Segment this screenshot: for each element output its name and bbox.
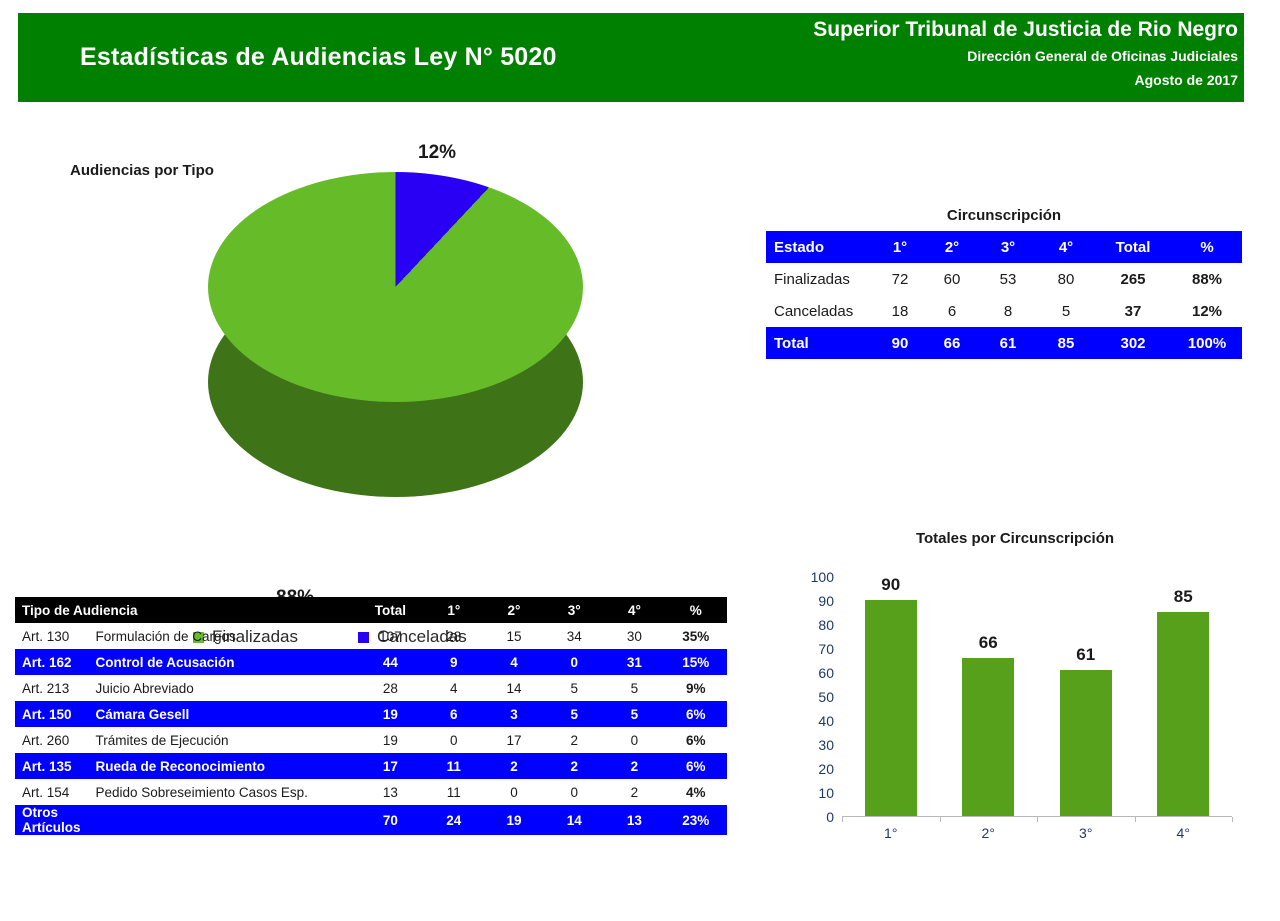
cell-c4: 80 bbox=[1038, 263, 1094, 295]
col-header-tipo: Tipo de Audiencia bbox=[15, 597, 357, 623]
pie-3d-top bbox=[208, 172, 583, 402]
col-header-c4: 4° bbox=[604, 597, 664, 623]
table-row: Otros Artículos702419141323% bbox=[15, 805, 727, 835]
table-total-row: Total 90 66 61 85 302 100% bbox=[766, 327, 1242, 359]
cell-articulo: Art. 154 bbox=[15, 779, 94, 805]
cell-descripcion: Pedido Sobreseimiento Casos Esp. bbox=[94, 779, 358, 805]
cell-descripcion: Rueda de Reconocimiento bbox=[94, 753, 358, 779]
cell-c1: 0 bbox=[424, 727, 484, 753]
cell-total: 265 bbox=[1094, 263, 1172, 295]
bar-chart-bar bbox=[865, 600, 917, 816]
bar-chart-bar bbox=[1157, 612, 1209, 816]
bar-chart-plot: 0102030405060708090100 901°662°613°854° bbox=[842, 577, 1232, 817]
cell-c4: 2 bbox=[604, 779, 664, 805]
pie-label-canceladas: 12% bbox=[418, 142, 456, 164]
tipo-audiencia-table: Tipo de Audiencia Total 1° 2° 3° 4° % Ar… bbox=[15, 597, 727, 835]
table-row: Art. 154Pedido Sobreseimiento Casos Esp.… bbox=[15, 779, 727, 805]
cell-c3: 14 bbox=[544, 805, 604, 835]
cell-total: 70 bbox=[357, 805, 424, 835]
cell-articulo: Art. 135 bbox=[15, 753, 94, 779]
y-axis-tick-label: 90 bbox=[784, 592, 834, 610]
cell-c4: 5 bbox=[604, 675, 664, 701]
cell-estado: Finalizadas bbox=[766, 263, 874, 295]
cell-descripcion: Trámites de Ejecución bbox=[94, 727, 358, 753]
bar-chart-data-label: 61 bbox=[1056, 645, 1116, 665]
cell-total: 44 bbox=[357, 649, 424, 675]
pie-chart-panel: Audiencias por Tipo 12% 88% Finalizadas … bbox=[18, 132, 718, 542]
tipo-audiencia-table-panel: Tipo de Audiencia Total 1° 2° 3° 4° % Ar… bbox=[15, 597, 727, 835]
pie-chart-graphic bbox=[188, 162, 588, 472]
bar-chart-data-label: 85 bbox=[1153, 587, 1213, 607]
col-header-pct: % bbox=[665, 597, 727, 623]
cell-pct: 23% bbox=[665, 805, 727, 835]
cell-c2: 0 bbox=[484, 779, 544, 805]
table-header-row: Tipo de Audiencia Total 1° 2° 3° 4° % bbox=[15, 597, 727, 623]
y-axis-tick-label: 10 bbox=[784, 784, 834, 802]
bar-chart-data-label: 90 bbox=[861, 575, 921, 595]
cell-c4: 5 bbox=[1038, 295, 1094, 327]
cell-c4: 5 bbox=[604, 701, 664, 727]
cell-c1: 9 bbox=[424, 649, 484, 675]
cell-total-total: 302 bbox=[1094, 327, 1172, 359]
bar-chart-title: Totales por Circunscripción bbox=[780, 530, 1250, 547]
circunscripcion-table: Estado 1° 2° 3° 4° Total % Finalizadas 7… bbox=[766, 231, 1242, 359]
cell-pct: 4% bbox=[665, 779, 727, 805]
table-row: Art. 135Rueda de Reconocimiento17112226% bbox=[15, 753, 727, 779]
cell-articulo: Art. 150 bbox=[15, 701, 94, 727]
cell-c3: 5 bbox=[544, 675, 604, 701]
bar-chart-y-axis: 0102030405060708090100 bbox=[784, 568, 834, 808]
header-organization: Superior Tribunal de Justicia de Rio Neg… bbox=[813, 15, 1238, 45]
cell-pct: 12% bbox=[1172, 295, 1242, 327]
col-header-c2: 2° bbox=[926, 231, 978, 263]
cell-articulo: Otros Artículos bbox=[15, 805, 94, 835]
col-header-c3: 3° bbox=[978, 231, 1038, 263]
page-title: Estadísticas de Audiencias Ley N° 5020 bbox=[80, 43, 557, 72]
cell-articulo: Art. 213 bbox=[15, 675, 94, 701]
cell-c1: 6 bbox=[424, 701, 484, 727]
cell-c2: 17 bbox=[484, 727, 544, 753]
cell-c3-total: 61 bbox=[978, 327, 1038, 359]
cell-c1: 28 bbox=[424, 623, 484, 649]
circunscripcion-caption: Circunscripción bbox=[766, 207, 1242, 224]
y-axis-tick-label: 70 bbox=[784, 640, 834, 658]
cell-pct: 6% bbox=[665, 727, 727, 753]
cell-descripcion: Formulación de Cargos bbox=[94, 623, 358, 649]
cell-c3: 53 bbox=[978, 263, 1038, 295]
col-header-c4: 4° bbox=[1038, 231, 1094, 263]
cell-pct: 6% bbox=[665, 701, 727, 727]
cell-total: 107 bbox=[357, 623, 424, 649]
cell-total: 17 bbox=[357, 753, 424, 779]
table-row: Art. 130Formulación de Cargos10728153430… bbox=[15, 623, 727, 649]
cell-c3: 0 bbox=[544, 779, 604, 805]
cell-c2: 15 bbox=[484, 623, 544, 649]
y-axis-tick-label: 0 bbox=[784, 808, 834, 826]
x-axis-tick-label: 3° bbox=[1056, 825, 1116, 841]
col-header-c1: 1° bbox=[424, 597, 484, 623]
cell-c4: 30 bbox=[604, 623, 664, 649]
x-axis-tick-mark bbox=[940, 817, 941, 822]
cell-total: 19 bbox=[357, 701, 424, 727]
cell-pct: 9% bbox=[665, 675, 727, 701]
cell-c1-total: 90 bbox=[874, 327, 926, 359]
header-date: Agosto de 2017 bbox=[813, 68, 1238, 92]
cell-c2: 4 bbox=[484, 649, 544, 675]
x-axis-tick-mark bbox=[1037, 817, 1038, 822]
y-axis-tick-label: 60 bbox=[784, 664, 834, 682]
cell-total: 19 bbox=[357, 727, 424, 753]
cell-estado: Canceladas bbox=[766, 295, 874, 327]
col-header-estado: Estado bbox=[766, 231, 874, 263]
bar-chart-bar bbox=[962, 658, 1014, 816]
col-header-c2: 2° bbox=[484, 597, 544, 623]
cell-c3: 8 bbox=[978, 295, 1038, 327]
table-row: Finalizadas 72 60 53 80 265 88% bbox=[766, 263, 1242, 295]
table-header-row: Estado 1° 2° 3° 4° Total % bbox=[766, 231, 1242, 263]
header-department: Dirección General de Oficinas Judiciales bbox=[813, 45, 1238, 68]
y-axis-tick-label: 30 bbox=[784, 736, 834, 754]
x-axis-tick-mark bbox=[1135, 817, 1136, 822]
cell-c1: 18 bbox=[874, 295, 926, 327]
cell-c1: 24 bbox=[424, 805, 484, 835]
cell-c4: 31 bbox=[604, 649, 664, 675]
cell-c3: 0 bbox=[544, 649, 604, 675]
col-header-total: Total bbox=[1094, 231, 1172, 263]
x-axis-tick-label: 2° bbox=[958, 825, 1018, 841]
cell-descripcion: Cámara Gesell bbox=[94, 701, 358, 727]
cell-c4: 13 bbox=[604, 805, 664, 835]
cell-articulo: Art. 130 bbox=[15, 623, 94, 649]
cell-c2: 14 bbox=[484, 675, 544, 701]
cell-c3: 2 bbox=[544, 727, 604, 753]
x-axis-tick-label: 4° bbox=[1153, 825, 1213, 841]
cell-c2: 2 bbox=[484, 753, 544, 779]
cell-c2: 6 bbox=[926, 295, 978, 327]
bar-chart-data-label: 66 bbox=[958, 633, 1018, 653]
y-axis-tick-label: 50 bbox=[784, 688, 834, 706]
cell-c2-total: 66 bbox=[926, 327, 978, 359]
cell-c2: 60 bbox=[926, 263, 978, 295]
x-axis-tick-label: 1° bbox=[861, 825, 921, 841]
cell-c4: 2 bbox=[604, 753, 664, 779]
table-row: Art. 150Cámara Gesell1963556% bbox=[15, 701, 727, 727]
y-axis-tick-label: 20 bbox=[784, 760, 834, 778]
cell-pct: 15% bbox=[665, 649, 727, 675]
cell-c2: 3 bbox=[484, 701, 544, 727]
col-header-total: Total bbox=[357, 597, 424, 623]
cell-c3: 2 bbox=[544, 753, 604, 779]
cell-total: 13 bbox=[357, 779, 424, 805]
cell-c1: 11 bbox=[424, 753, 484, 779]
cell-pct: 88% bbox=[1172, 263, 1242, 295]
col-header-c3: 3° bbox=[544, 597, 604, 623]
cell-pct: 6% bbox=[665, 753, 727, 779]
cell-c1: 72 bbox=[874, 263, 926, 295]
x-axis-tick-mark bbox=[1232, 817, 1233, 822]
cell-articulo: Art. 260 bbox=[15, 727, 94, 753]
table-row: Art. 260Trámites de Ejecución19017206% bbox=[15, 727, 727, 753]
cell-c4-total: 85 bbox=[1038, 327, 1094, 359]
cell-articulo: Art. 162 bbox=[15, 649, 94, 675]
cell-pct-total: 100% bbox=[1172, 327, 1242, 359]
cell-estado-total: Total bbox=[766, 327, 874, 359]
x-axis-tick-mark bbox=[842, 817, 843, 822]
cell-c3: 34 bbox=[544, 623, 604, 649]
cell-c3: 5 bbox=[544, 701, 604, 727]
table-row: Art. 162Control de Acusación449403115% bbox=[15, 649, 727, 675]
header-right-block: Superior Tribunal de Justicia de Rio Neg… bbox=[813, 15, 1238, 92]
cell-descripcion bbox=[94, 805, 358, 835]
bar-chart-bar bbox=[1060, 670, 1112, 816]
circunscripcion-table-panel: Circunscripción Estado 1° 2° 3° 4° Total… bbox=[766, 207, 1242, 359]
cell-descripcion: Control de Acusación bbox=[94, 649, 358, 675]
col-header-pct: % bbox=[1172, 231, 1242, 263]
y-axis-tick-label: 80 bbox=[784, 616, 834, 634]
page-header-band: Estadísticas de Audiencias Ley N° 5020 S… bbox=[18, 13, 1244, 102]
y-axis-tick-label: 100 bbox=[784, 568, 834, 586]
bar-chart-panel: Totales por Circunscripción 010203040506… bbox=[780, 522, 1250, 862]
table-row: Canceladas 18 6 8 5 37 12% bbox=[766, 295, 1242, 327]
cell-pct: 35% bbox=[665, 623, 727, 649]
col-header-c1: 1° bbox=[874, 231, 926, 263]
cell-c1: 4 bbox=[424, 675, 484, 701]
cell-descripcion: Juicio Abreviado bbox=[94, 675, 358, 701]
cell-total: 28 bbox=[357, 675, 424, 701]
table-row: Art. 213Juicio Abreviado28414559% bbox=[15, 675, 727, 701]
cell-c2: 19 bbox=[484, 805, 544, 835]
cell-c4: 0 bbox=[604, 727, 664, 753]
y-axis-tick-label: 40 bbox=[784, 712, 834, 730]
cell-c1: 11 bbox=[424, 779, 484, 805]
cell-total: 37 bbox=[1094, 295, 1172, 327]
